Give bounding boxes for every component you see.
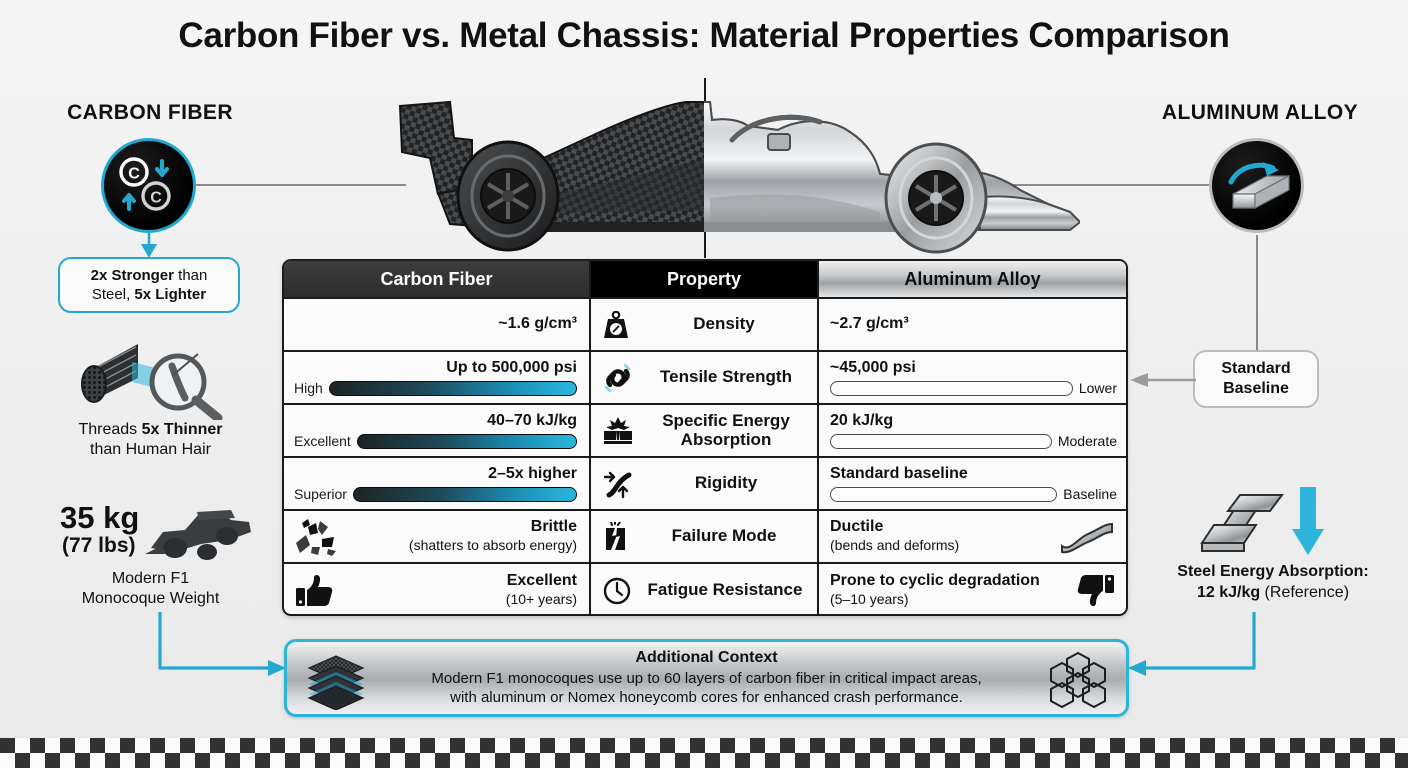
carbon-fiber-callout: 2x Stronger than Steel, 5x Lighter (58, 257, 240, 313)
additional-context-panel: Additional Context Modern F1 monocoques … (284, 639, 1129, 717)
table-row: Up to 500,000 psi High (284, 352, 1126, 405)
context-title: Additional Context (377, 648, 1037, 669)
property-label: Specific Energy Absorption (643, 412, 817, 449)
al-energy-bar (830, 434, 1052, 449)
cell-cf-fatigue: Excellent (10+ years) (284, 564, 591, 616)
cf-sub: (10+ years) (506, 591, 577, 607)
cell-cf-rigidity: 2–5x higher Superior (284, 458, 591, 509)
property-label: Fatigue Resistance (641, 581, 817, 600)
down-arrow-icon (1290, 487, 1326, 557)
thumbs-down-icon (1076, 573, 1116, 609)
cell-cf-failure: Brittle (shatters to absorb energy) (284, 511, 591, 562)
threads-pre: Threads (78, 421, 141, 438)
clock-icon (603, 577, 631, 605)
cf-energy-bar (357, 434, 577, 449)
baseline-to-table-arrow (1130, 372, 1196, 388)
mono-line2: Monocoque Weight (82, 590, 220, 607)
al-rigidity-bar (830, 487, 1057, 502)
right-vertical-connector (1256, 235, 1258, 351)
cf-bar-label: Excellent (294, 433, 351, 449)
left-connector-line (196, 184, 406, 186)
table-row: Excellent (10+ years) Fatigue Resistance (284, 564, 1126, 616)
cf-callout-bold-2: 5x Lighter (134, 286, 206, 303)
mono-line1: Modern F1 (112, 570, 189, 587)
header-label-property: Property (591, 261, 817, 297)
cf-rigidity-bar (353, 487, 577, 502)
cf-callout-pre-2: Steel, (92, 286, 135, 303)
cf-bar-label: High (294, 380, 323, 396)
cf-sub: (shatters to absorb energy) (409, 537, 577, 553)
cracked-block-icon (603, 522, 629, 552)
cf-value: 2–5x higher (488, 465, 577, 483)
al-value: Standard baseline (830, 465, 968, 483)
table-row: ~1.6 g/cm³ Density (284, 299, 1126, 352)
page-title: Carbon Fiber vs. Metal Chassis: Material… (0, 16, 1408, 56)
honeycomb-core-icon (1048, 651, 1108, 709)
cell-al-fatigue: Prone to cyclic degradation (5–10 years) (819, 564, 1126, 616)
al-value: Ductile (830, 518, 883, 535)
cf-callout-bold-1: 2x Stronger (91, 267, 174, 284)
cell-cf-density: ~1.6 g/cm³ (284, 299, 591, 350)
property-label: Failure Mode (639, 527, 817, 546)
table-header-row: Carbon Fiber Property Aluminum Alloy (284, 261, 1126, 299)
property-label: Tensile Strength (643, 368, 817, 387)
bent-metal-sheet-icon (1058, 520, 1116, 554)
svg-text:C: C (150, 189, 162, 206)
flex-bend-arrow-icon (603, 469, 633, 499)
comparison-table: Carbon Fiber Property Aluminum Alloy ~1.… (282, 259, 1128, 616)
al-bar-label: Baseline (1063, 486, 1117, 502)
property-label: Density (639, 315, 817, 334)
weight-scale-icon (603, 311, 629, 339)
shatter-fragments-icon (294, 517, 338, 557)
infographic-canvas: Carbon Fiber vs. Metal Chassis: Material… (0, 0, 1408, 768)
al-value: 20 kJ/kg (830, 412, 893, 430)
cell-property-tensile: Tensile Strength (591, 352, 819, 403)
al-bar-label: Moderate (1058, 433, 1117, 449)
broken-chain-icon (603, 363, 633, 393)
cell-al-rigidity: Standard baseline Baseline (819, 458, 1126, 509)
cell-property-energy: Specific Energy Absorption (591, 405, 819, 456)
al-strength-bar (830, 381, 1073, 396)
right-context-arrow (1122, 612, 1262, 684)
left-context-arrow (152, 612, 292, 684)
cell-al-density: ~2.7 g/cm³ (819, 299, 1126, 350)
al-sub: (bends and deforms) (830, 537, 959, 553)
cell-property-density: Density (591, 299, 819, 350)
al-callout-line2: Baseline (1223, 380, 1289, 397)
context-text: Additional Context Modern F1 monocoques … (377, 648, 1037, 708)
monocoque-weight-value: 35 kg (60, 503, 139, 533)
table-row: Brittle (shatters to absorb energy) (284, 511, 1126, 564)
threads-bold: 5x Thinner (142, 421, 223, 438)
context-line2: with aluminum or Nomex honeycomb cores f… (377, 688, 1037, 708)
monocoque-weight-sub: (77 lbs) (62, 534, 136, 558)
cell-cf-energy: 40–70 kJ/kg Excellent (284, 405, 591, 456)
header-label-aluminum-alloy: Aluminum Alloy (819, 261, 1126, 297)
cf-strength-bar (329, 381, 577, 396)
right-panel-heading: ALUMINUM ALLOY (1135, 101, 1385, 125)
cf-callout-rest-1: than (174, 267, 207, 284)
al-value: ~45,000 psi (830, 359, 916, 377)
header-cell-aluminum-alloy: Aluminum Alloy (819, 261, 1126, 297)
cf-value: Brittle (531, 518, 577, 535)
svg-text:C: C (128, 165, 140, 182)
steel-line2-rest: (Reference) (1260, 584, 1349, 601)
header-cell-property: Property (591, 261, 819, 297)
header-label-carbon-fiber: Carbon Fiber (284, 261, 589, 297)
left-panel-heading: CARBON FIBER (30, 101, 270, 125)
table-row: 40–70 kJ/kg Excellent (284, 405, 1126, 458)
header-cell-carbon-fiber: Carbon Fiber (284, 261, 591, 297)
steel-line1: Steel Energy Absorption: (1177, 563, 1368, 580)
cell-property-failure: Failure Mode (591, 511, 819, 562)
cf-bar-label: Superior (294, 486, 347, 502)
threads-line2: than Human Hair (90, 441, 211, 458)
cell-property-rigidity: Rigidity (591, 458, 819, 509)
carbon-atoms-icon: C C (101, 138, 196, 233)
cf-value: Up to 500,000 psi (446, 359, 577, 377)
threads-caption: Threads 5x Thinner than Human Hair (28, 420, 273, 460)
table-row: 2–5x higher Superior (284, 458, 1126, 511)
steel-line2-bold: 12 kJ/kg (1197, 584, 1260, 601)
cf-value: 40–70 kJ/kg (487, 412, 577, 430)
crash-impact-icon (603, 416, 633, 446)
metal-bar-bend-icon (1209, 138, 1304, 233)
fiber-bundle-magnifier-icon (72, 340, 232, 420)
cell-al-energy: 20 kJ/kg Moderate (819, 405, 1126, 456)
thumbs-up-icon (294, 574, 334, 608)
cell-property-fatigue: Fatigue Resistance (591, 564, 819, 616)
al-callout-line1: Standard (1221, 360, 1290, 377)
context-line1: Modern F1 monocoques use up to 60 layers… (377, 669, 1037, 689)
cf-value: Excellent (507, 572, 577, 589)
cf-value: ~1.6 g/cm³ (498, 315, 577, 333)
f1-car-illustration (380, 78, 1080, 258)
al-bar-label: Lower (1079, 380, 1117, 396)
al-sub: (5–10 years) (830, 591, 909, 607)
cell-cf-tensile: Up to 500,000 psi High (284, 352, 591, 403)
monocoque-caption: Modern F1 Monocoque Weight (28, 569, 273, 609)
cell-al-tensile: ~45,000 psi Lower (819, 352, 1126, 403)
al-value: ~2.7 g/cm³ (830, 315, 909, 333)
badge-to-callout-arrow-icon (140, 233, 158, 259)
steel-energy-caption: Steel Energy Absorption: 12 kJ/kg (Refer… (1148, 562, 1398, 604)
f1-car-icon (145, 502, 255, 564)
checkered-flag-strip (0, 738, 1408, 768)
layered-carbon-plies-icon (305, 654, 367, 710)
standard-baseline-callout: Standard Baseline (1193, 350, 1319, 408)
cell-al-failure: Ductile (bends and deforms) (819, 511, 1126, 562)
property-label: Rigidity (643, 474, 817, 493)
al-value: Prone to cyclic degradation (830, 572, 1040, 589)
